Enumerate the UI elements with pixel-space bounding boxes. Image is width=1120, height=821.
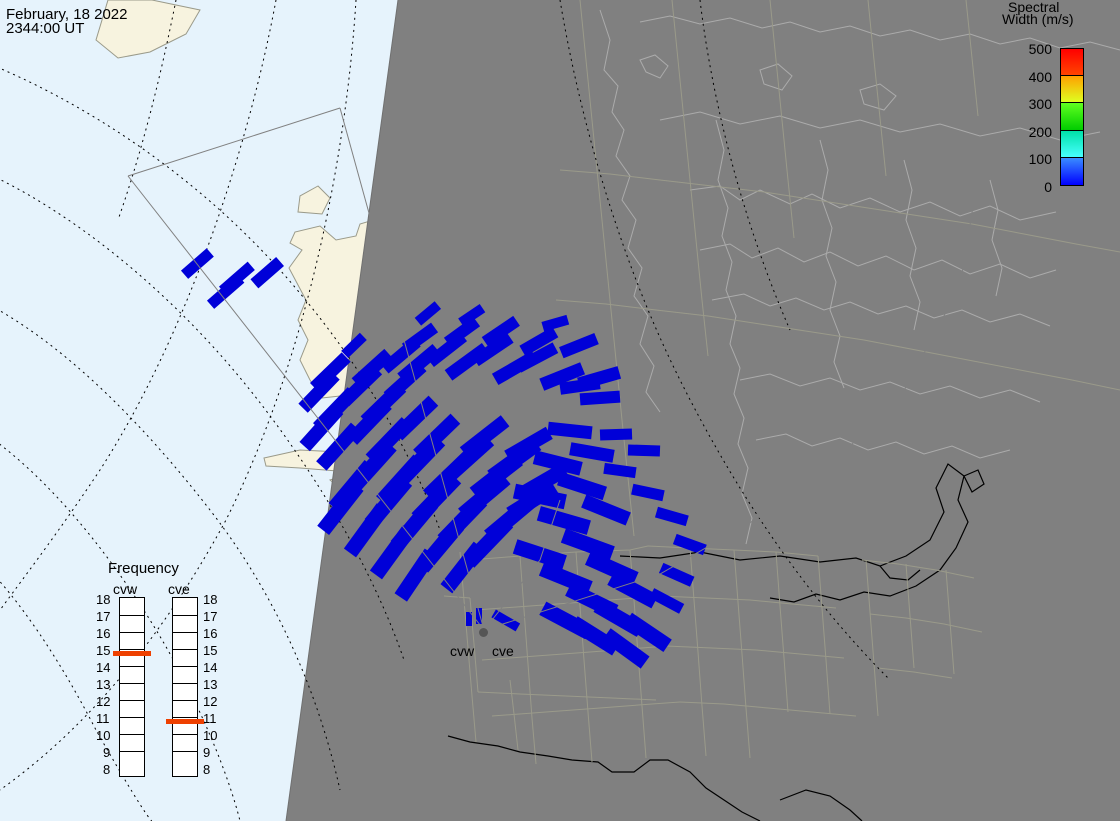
radar-site-label-cve: cve xyxy=(492,643,514,659)
colorbar-scale xyxy=(1060,48,1084,186)
freq-label-left-18: 18 xyxy=(96,592,110,607)
freq-label-right-16: 16 xyxy=(203,626,217,641)
freq-label-left-10: 10 xyxy=(96,728,110,743)
colorbar-tick-200: 200 xyxy=(1016,124,1052,140)
freq-label-right-17: 17 xyxy=(203,609,217,624)
colorbar-segment-300-400 xyxy=(1061,76,1083,103)
map-canvas xyxy=(0,0,1120,821)
freq-label-left-17: 17 xyxy=(96,609,110,624)
freq-label-left-16: 16 xyxy=(96,626,110,641)
frequency-bar-cve xyxy=(172,597,198,777)
freq-label-right-9: 9 xyxy=(203,745,210,760)
colorbar-segment-0-100 xyxy=(1061,158,1083,185)
frequency-bar-cvw xyxy=(119,597,145,777)
freq-label-left-8: 8 xyxy=(103,762,110,777)
freq-label-right-8: 8 xyxy=(203,762,210,777)
freq-label-left-11: 11 xyxy=(96,711,110,726)
freq-label-right-12: 12 xyxy=(203,694,217,709)
colorbar-tick-0: 0 xyxy=(1016,179,1052,195)
freq-label-left-9: 9 xyxy=(103,745,110,760)
colorbar-segment-100-200 xyxy=(1061,131,1083,158)
frequency-panel-title: Frequency xyxy=(108,560,179,577)
colorbar-tick-500: 500 xyxy=(1016,41,1052,57)
radar-fan-plot: February, 18 2022 2344:00 UT Spectral Wi… xyxy=(0,0,1120,821)
colorbar-tick-100: 100 xyxy=(1016,151,1052,167)
freq-label-right-18: 18 xyxy=(203,592,217,607)
freq-label-right-15: 15 xyxy=(203,643,217,658)
colorbar-tick-400: 400 xyxy=(1016,69,1052,85)
frequency-marker-cve xyxy=(166,719,204,724)
radar-site-marker xyxy=(479,628,488,637)
freq-label-right-11: 11 xyxy=(203,711,217,726)
freq-label-left-15: 15 xyxy=(96,643,110,658)
colorbar-segment-200-300 xyxy=(1061,103,1083,130)
frequency-column-label-cve: cve xyxy=(168,581,190,597)
frequency-marker-cvw xyxy=(113,651,151,656)
freq-label-right-14: 14 xyxy=(203,660,217,675)
frequency-column-label-cvw: cvw xyxy=(113,581,137,597)
freq-label-left-14: 14 xyxy=(96,660,110,675)
colorbar-tick-300: 300 xyxy=(1016,96,1052,112)
freq-label-right-10: 10 xyxy=(203,728,217,743)
colorbar-title-line2: Width (m/s) xyxy=(1002,11,1074,27)
freq-label-right-13: 13 xyxy=(203,677,217,692)
radar-site-label-cvw: cvw xyxy=(450,643,474,659)
freq-label-left-12: 12 xyxy=(96,694,110,709)
colorbar-segment-400-500 xyxy=(1061,49,1083,76)
plot-time-label: 2344:00 UT xyxy=(6,20,84,37)
freq-label-left-13: 13 xyxy=(96,677,110,692)
